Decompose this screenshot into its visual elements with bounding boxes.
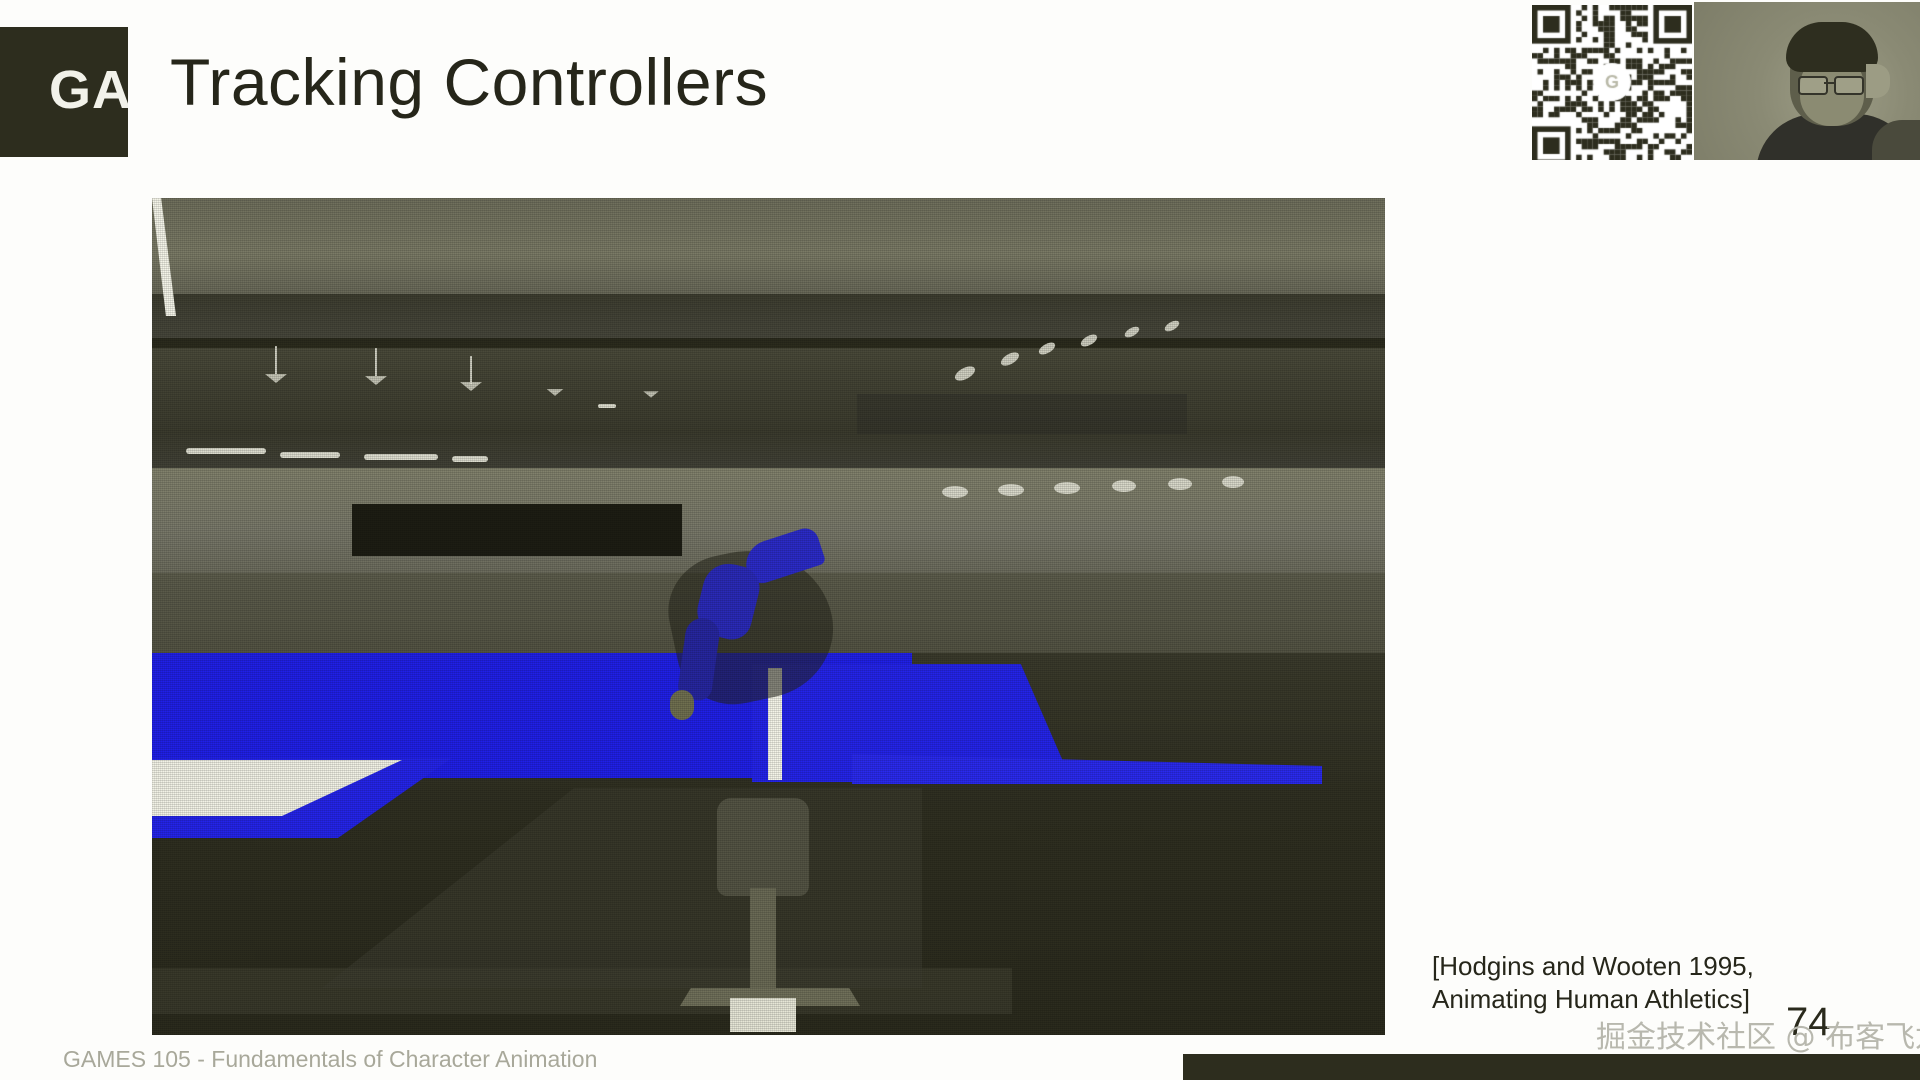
presenter-webcam[interactable] bbox=[1694, 2, 1920, 160]
presenter-glasses-right bbox=[1834, 76, 1864, 95]
arena-dark-panel bbox=[352, 504, 682, 556]
arena-light bbox=[998, 484, 1024, 496]
citation: [Hodgins and Wooten 1995, Animating Huma… bbox=[1432, 950, 1812, 1017]
podium-foot bbox=[730, 998, 796, 1032]
seat-highlight bbox=[452, 456, 488, 462]
games-logo-label: GA bbox=[49, 63, 128, 121]
arena-light bbox=[1054, 482, 1080, 494]
diver-foot bbox=[670, 690, 694, 720]
arena-light bbox=[1112, 480, 1136, 492]
seat-highlight bbox=[364, 454, 438, 460]
arena-dark-panel-2 bbox=[857, 394, 1187, 434]
truss-light bbox=[470, 356, 472, 384]
floor-strip bbox=[152, 968, 1012, 1014]
arena-light bbox=[1168, 478, 1192, 490]
video-player[interactable] bbox=[152, 198, 1385, 1035]
podium-top bbox=[717, 798, 809, 896]
slide-footer: GAMES 105 - Fundamentals of Character An… bbox=[63, 1046, 597, 1073]
arena-ceiling-shadow bbox=[152, 294, 1385, 354]
truss-light-head bbox=[365, 376, 387, 385]
presenter-hair bbox=[1786, 22, 1878, 72]
page-title: Tracking Controllers bbox=[170, 48, 768, 117]
arena-upper-stands bbox=[152, 348, 1385, 478]
slide-root: GA Tracking Controllers bbox=[0, 0, 1920, 1080]
qr-code[interactable] bbox=[1532, 5, 1692, 160]
qr-code-canvas bbox=[1532, 5, 1692, 160]
truss-light-head bbox=[460, 382, 482, 391]
truss-light-head bbox=[643, 391, 658, 397]
podium-pole bbox=[750, 888, 776, 998]
presenter-ear bbox=[1866, 64, 1890, 98]
truss-light bbox=[375, 348, 377, 376]
presenter-glasses-left bbox=[1798, 76, 1828, 95]
games-logo-block: GA bbox=[0, 27, 128, 157]
seat-highlight bbox=[186, 448, 266, 454]
truss-light bbox=[275, 346, 277, 374]
citation-line-1: [Hodgins and Wooten 1995, bbox=[1432, 950, 1812, 983]
seat-highlight bbox=[280, 452, 340, 458]
truss-light-head bbox=[547, 389, 564, 396]
bottom-bar bbox=[1183, 1054, 1920, 1080]
presenter-glasses-bridge bbox=[1824, 82, 1836, 84]
seat-highlight bbox=[598, 404, 616, 408]
arena-light bbox=[942, 486, 968, 498]
truss-light-head bbox=[265, 374, 287, 383]
arena-light bbox=[1222, 476, 1244, 488]
watermark: 掘金技术社区 @ 布客飞龙 bbox=[1596, 1012, 1920, 1056]
